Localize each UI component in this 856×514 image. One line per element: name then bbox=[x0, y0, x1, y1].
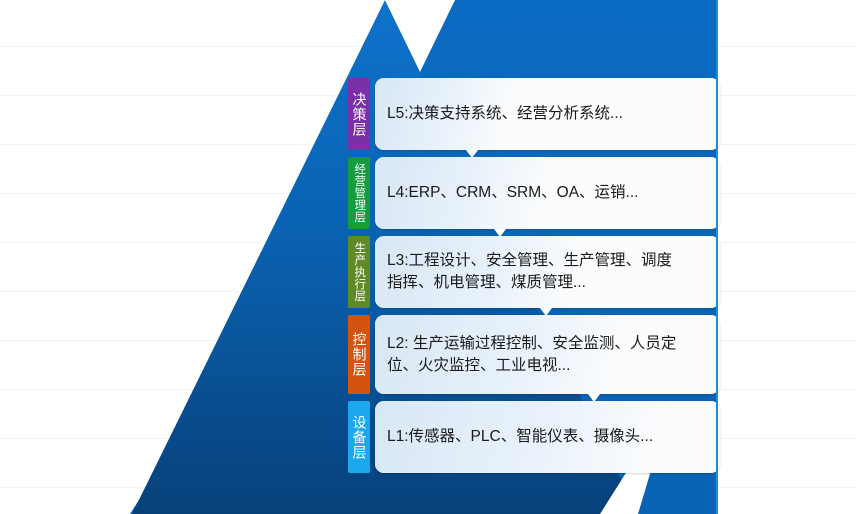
diagram-canvas: 决策层 L5:决策支持系统、经营分析系统... 经营管理层 L4:ERP、CRM… bbox=[0, 0, 856, 514]
level-card-text-l1: L1:传感器、PLC、智能仪表、摄像头... bbox=[375, 426, 665, 448]
level-tab-label-l4: 经营管理层 bbox=[353, 163, 365, 223]
level-row-l5[interactable]: 决策层 L5:决策支持系统、经营分析系统... bbox=[348, 78, 720, 150]
level-card-text-l5: L5:决策支持系统、经营分析系统... bbox=[375, 103, 635, 125]
level-tab-l5[interactable]: 决策层 bbox=[348, 78, 370, 150]
level-card-l2[interactable]: L2: 生产运输过程控制、安全监测、人员定 位、火灾监控、工业电视... bbox=[375, 315, 720, 394]
gap-arrow-icon bbox=[466, 150, 478, 158]
gap-arrow-icon bbox=[588, 394, 600, 402]
level-card-text-l2: L2: 生产运输过程控制、安全监测、人员定 位、火灾监控、工业电视... bbox=[375, 333, 688, 377]
level-row-l3[interactable]: 生产执行层 L3:工程设计、安全管理、生产管理、调度 指挥、机电管理、煤质管理.… bbox=[348, 236, 720, 308]
pyramid-levels-list: 决策层 L5:决策支持系统、经营分析系统... 经营管理层 L4:ERP、CRM… bbox=[348, 78, 720, 473]
level-card-text-l4: L4:ERP、CRM、SRM、OA、运销... bbox=[375, 182, 650, 204]
level-tab-l3[interactable]: 生产执行层 bbox=[348, 236, 370, 308]
level-row-l1[interactable]: 设备层 L1:传感器、PLC、智能仪表、摄像头... bbox=[348, 401, 720, 473]
level-card-l3[interactable]: L3:工程设计、安全管理、生产管理、调度 指挥、机电管理、煤质管理... bbox=[375, 236, 720, 308]
level-tab-label-l3: 生产执行层 bbox=[353, 242, 365, 302]
level-tab-l1[interactable]: 设备层 bbox=[348, 401, 370, 473]
level-tab-l2[interactable]: 控制层 bbox=[348, 315, 370, 394]
level-row-l2[interactable]: 控制层 L2: 生产运输过程控制、安全监测、人员定 位、火灾监控、工业电视... bbox=[348, 315, 720, 394]
level-tab-label-l5: 决策层 bbox=[351, 92, 366, 137]
level-card-l1[interactable]: L1:传感器、PLC、智能仪表、摄像头... bbox=[375, 401, 720, 473]
level-tab-label-l1: 设备层 bbox=[351, 415, 366, 460]
gap-arrow-icon bbox=[494, 229, 506, 237]
panel-right-edge-highlight bbox=[716, 0, 718, 514]
level-card-l5[interactable]: L5:决策支持系统、经营分析系统... bbox=[375, 78, 720, 150]
level-card-l4[interactable]: L4:ERP、CRM、SRM、OA、运销... bbox=[375, 157, 720, 229]
level-tab-label-l2: 控制层 bbox=[351, 332, 366, 377]
level-row-l4[interactable]: 经营管理层 L4:ERP、CRM、SRM、OA、运销... bbox=[348, 157, 720, 229]
level-card-text-l3: L3:工程设计、安全管理、生产管理、调度 指挥、机电管理、煤质管理... bbox=[375, 250, 684, 294]
level-tab-l4[interactable]: 经营管理层 bbox=[348, 157, 370, 229]
gap-arrow-icon bbox=[540, 308, 552, 316]
